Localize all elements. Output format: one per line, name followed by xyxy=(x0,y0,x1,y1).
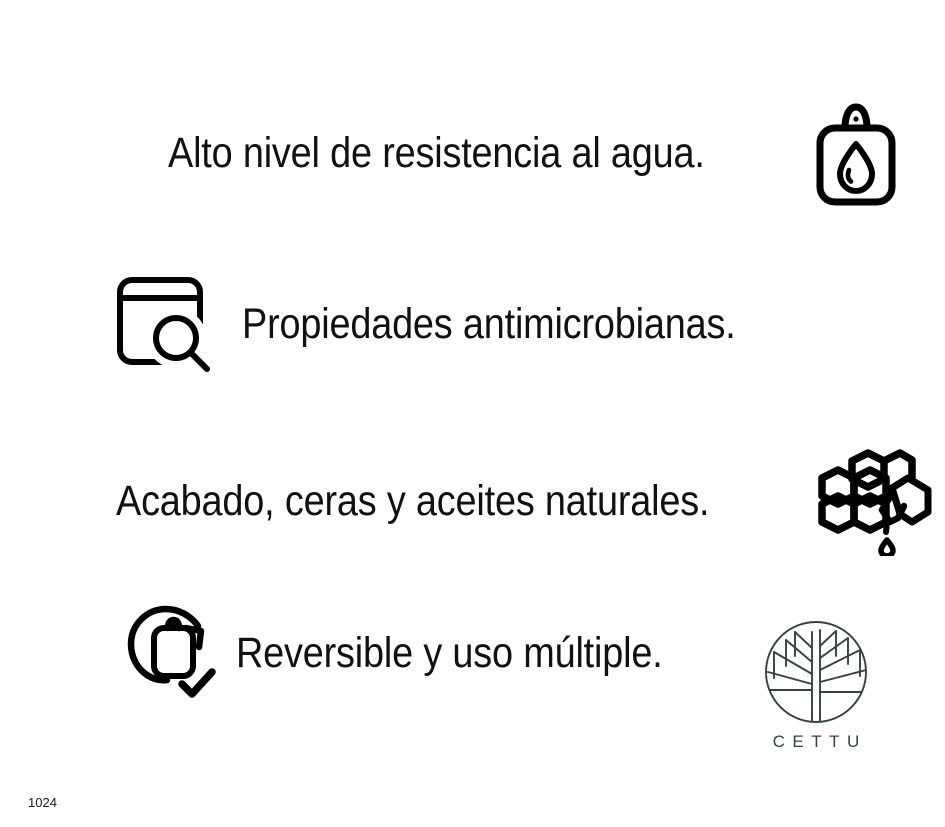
feature-row-reversible: Reversible y uso múltiple. xyxy=(124,602,721,706)
feature-text-natural-finish: Acabado, ceras y aceites naturales. xyxy=(116,479,709,524)
brand-logo: CETTU xyxy=(762,618,870,752)
cutting-board-water-drop-icon xyxy=(812,98,900,210)
brand-wordmark: CETTU xyxy=(762,732,870,752)
feature-text-antimicrobial: Propiedades antimicrobianas. xyxy=(242,302,736,347)
feature-row-antimicrobial: Propiedades antimicrobianas. xyxy=(108,272,803,378)
slide-canvas: Alto nivel de resistencia al agua. xyxy=(0,0,945,827)
honeycomb-oil-dropper-icon xyxy=(808,448,940,556)
cettu-tree-circle-logo xyxy=(762,618,870,726)
feature-text-reversible: Reversible y uso múltiple. xyxy=(236,631,663,676)
feature-row-water-resistance: Alto nivel de resistencia al agua. xyxy=(168,98,900,210)
slide-number: 1024 xyxy=(28,795,57,810)
feature-text-water-resistance: Alto nivel de resistencia al agua. xyxy=(168,131,705,176)
window-magnifier-icon xyxy=(108,272,220,378)
reversible-cutting-board-check-icon xyxy=(124,602,232,706)
feature-row-natural-finish: Acabado, ceras y aceites naturales. xyxy=(116,448,940,556)
